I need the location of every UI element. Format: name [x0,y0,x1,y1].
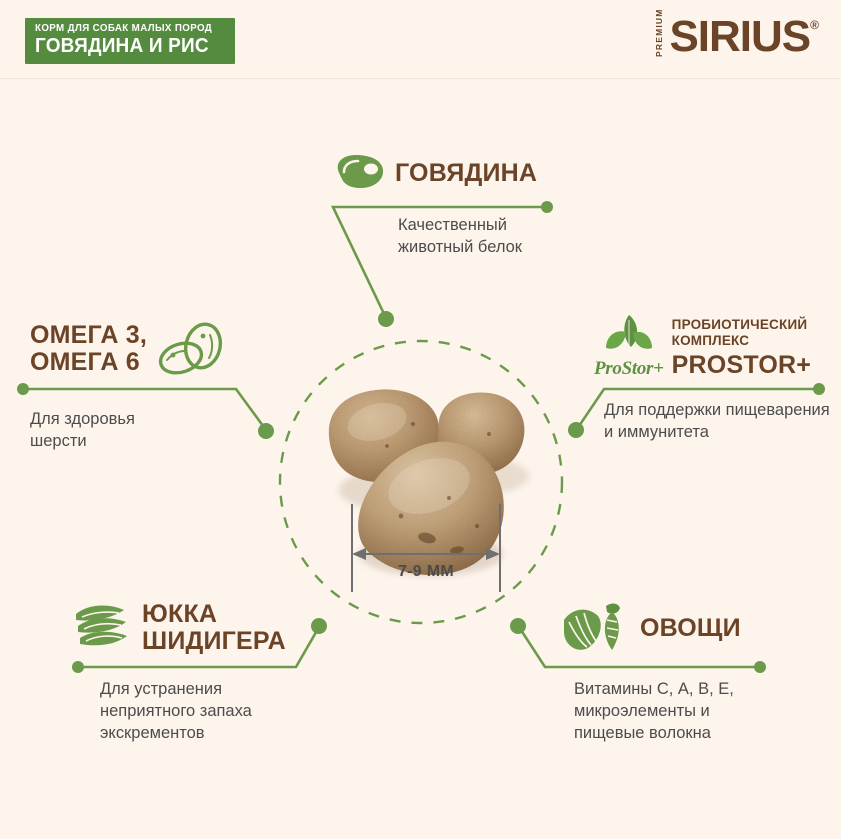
leaves-icon [598,312,660,354]
feature-vegetables-title: ОВОЩИ [640,615,741,642]
yucca-icon [72,600,134,656]
feature-omega-description: Для здоровья шерсти [30,408,227,452]
badge-title: ГОВЯДИНА И РИС [35,35,216,58]
registered-mark-icon: ® [810,18,819,32]
feature-prostor: ProStor+ ПРОБИОТИЧЕСКИЙ КОМПЛЕКС PROSTOR… [594,312,837,443]
feature-prostor-title: PROSTOR+ [672,352,811,379]
connector-dot-omega-outer [17,383,29,395]
product-image [281,338,561,626]
brand-logo: PREMIUM SIRIUS ® [654,14,819,60]
feature-yucca-heading: ЮККА ШИДИГЕРА [72,600,286,656]
feature-yucca: ЮККА ШИДИГЕРА Для устранения неприятного… [72,600,286,744]
infographic-root: КОРМ ДЛЯ СОБАК МАЛЫХ ПОРОД ГОВЯДИНА И РИ… [0,0,841,839]
logo-wordmark: SIRIUS [669,15,810,59]
feature-beef-title: ГОВЯДИНА [395,160,537,187]
header-divider [0,78,841,79]
feature-omega-heading: ОМЕГА 3, ОМЕГА 6 [30,318,233,380]
vegetables-icon [560,600,634,656]
feature-vegetables-heading: ОВОЩИ [560,600,741,656]
product-badge: КОРМ ДЛЯ СОБАК МАЛЫХ ПОРОД ГОВЯДИНА И РИ… [25,18,235,64]
feature-beef: ГОВЯДИНА Качественный животный белок [330,152,537,258]
feature-yucca-description: Для устранения неприятного запаха экскре… [100,678,280,744]
logo-premium-text: PREMIUM [654,17,664,57]
connector-dot-beef-inner [378,311,394,327]
feature-beef-heading: ГОВЯДИНА [330,152,537,194]
connector-dot-beef-outer [541,201,553,213]
badge-subtitle: КОРМ ДЛЯ СОБАК МАЛЫХ ПОРОД [35,22,212,35]
connector-dot-prostor-inner [568,422,584,438]
connector-dot-omega-inner [258,423,274,439]
page-header: КОРМ ДЛЯ СОБАК МАЛЫХ ПОРОД ГОВЯДИНА И РИ… [0,0,841,78]
feature-omega-title: ОМЕГА 3, ОМЕГА 6 [30,322,147,376]
dimension-label: 7-9 ММ [352,563,500,581]
feature-prostor-description: Для поддержки пищеварения и иммунитета [604,399,830,443]
prostor-logo: ProStor+ [594,312,664,379]
feature-beef-description: Качественный животный белок [398,214,533,258]
feature-prostor-heading: ProStor+ ПРОБИОТИЧЕСКИЙ КОМПЛЕКС PROSTOR… [594,312,837,379]
steak-icon [330,152,386,194]
feature-prostor-kicker: ПРОБИОТИЧЕСКИЙ КОМПЛЕКС [672,317,811,349]
connector-dot-vegetables-outer [754,661,766,673]
feature-vegetables: ОВОЩИ Витамины С, А, В, Е, микроэлементы… [560,600,741,744]
feature-yucca-title: ЮККА ШИДИГЕРА [142,601,286,655]
prostor-logo-text: ProStor+ [594,359,664,379]
feature-omega: ОМЕГА 3, ОМЕГА 6 Для здоровья шерсти [30,318,233,452]
prostor-text-block: ПРОБИОТИЧЕСКИЙ КОМПЛЕКС PROSTOR+ [672,317,811,379]
seeds-icon [153,322,233,380]
feature-vegetables-description: Витамины С, А, В, Е, микроэлементы и пищ… [574,678,736,744]
